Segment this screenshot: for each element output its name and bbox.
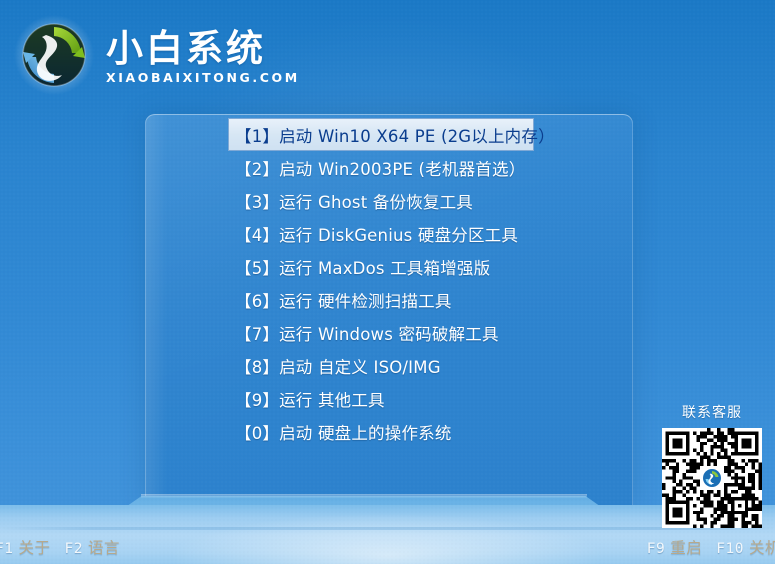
boot-menu-item-key: 【9】 xyxy=(235,387,279,411)
boot-menu-item-label: 运行 硬件检测扫描工具 xyxy=(279,288,451,312)
boot-menu-item-label: 运行 Ghost 备份恢复工具 xyxy=(279,189,473,213)
recycle-circle-logo-icon xyxy=(12,13,96,97)
boot-menu-item-10[interactable]: 【0】启动 硬盘上的操作系统 xyxy=(228,415,534,448)
boot-menu-item-5[interactable]: 【5】运行 MaxDos 工具箱增强版 xyxy=(228,250,534,283)
boot-menu-item-7[interactable]: 【7】运行 Windows 密码破解工具 xyxy=(228,316,534,349)
footer-action-f10[interactable]: 关机 xyxy=(749,539,775,557)
boot-menu-item-key: 【5】 xyxy=(235,255,279,279)
boot-menu-item-3[interactable]: 【3】运行 Ghost 备份恢复工具 xyxy=(228,184,534,217)
footer-action-f1[interactable]: 关于 xyxy=(18,539,50,557)
brand-subtitle: XIAOBAIXITONG.COM xyxy=(106,72,300,85)
boot-menu-item-label: 运行 其他工具 xyxy=(279,387,385,411)
boot-menu-item-4[interactable]: 【4】运行 DiskGenius 硬盘分区工具 xyxy=(228,217,534,250)
monitor-left-shading xyxy=(145,114,167,507)
footer-key-f10: F10 xyxy=(716,541,744,557)
boot-menu-screen: 小白系统 XIAOBAIXITONG.COM 【1】启动 Win10 X64 P… xyxy=(0,0,775,564)
footer-action-f2[interactable]: 语言 xyxy=(88,539,120,557)
boot-menu-item-key: 【1】 xyxy=(235,123,279,147)
boot-menu-item-label: 启动 Win10 X64 PE (2G以上内存） xyxy=(279,123,555,147)
boot-menu-item-label: 运行 DiskGenius 硬盘分区工具 xyxy=(279,222,518,246)
boot-menu-item-key: 【4】 xyxy=(235,222,279,246)
boot-menu-item-label: 启动 硬盘上的操作系统 xyxy=(279,420,451,444)
boot-menu-item-key: 【6】 xyxy=(235,288,279,312)
boot-menu-item-key: 【7】 xyxy=(235,321,279,345)
footer-key-f9: F9 xyxy=(647,541,665,557)
contact-support-title: 联系客服 xyxy=(658,402,766,422)
boot-menu-item-label: 运行 MaxDos 工具箱增强版 xyxy=(279,255,490,279)
footer-key-f2: F2 xyxy=(64,541,82,557)
boot-menu-list[interactable]: 【1】启动 Win10 X64 PE (2G以上内存）【2】启动 Win2003… xyxy=(228,118,534,448)
boot-menu-item-1[interactable]: 【1】启动 Win10 X64 PE (2G以上内存） xyxy=(228,118,534,151)
contact-support-block: 联系客服 xyxy=(658,402,766,528)
qr-code-icon[interactable] xyxy=(662,428,762,528)
boot-menu-item-key: 【8】 xyxy=(235,354,279,378)
boot-menu-item-2[interactable]: 【2】启动 Win2003PE (老机器首选） xyxy=(228,151,534,184)
boot-menu-item-key: 【0】 xyxy=(235,420,279,444)
boot-menu-item-9[interactable]: 【9】运行 其他工具 xyxy=(228,382,534,415)
boot-menu-item-label: 启动 Win2003PE (老机器首选） xyxy=(279,156,525,180)
footer-action-f9[interactable]: 重启 xyxy=(670,539,702,557)
boot-menu-item-8[interactable]: 【8】启动 自定义 ISO/IMG xyxy=(228,349,534,382)
monitor-stand-top-edge xyxy=(141,494,587,498)
boot-menu-item-label: 启动 自定义 ISO/IMG xyxy=(279,354,441,378)
boot-menu-item-label: 运行 Windows 密码破解工具 xyxy=(279,321,499,345)
brand-logo: 小白系统 XIAOBAIXITONG.COM xyxy=(12,13,300,97)
footer-keys-right[interactable]: F9重启F10关机 xyxy=(647,536,775,558)
brand-logo-icon xyxy=(701,467,723,489)
boot-menu-item-key: 【2】 xyxy=(235,156,279,180)
footer-keys-left[interactable]: F1关于F2语言 xyxy=(0,536,120,558)
boot-menu-item-6[interactable]: 【6】运行 硬件检测扫描工具 xyxy=(228,283,534,316)
footer-key-f1: F1 xyxy=(0,541,13,557)
brand-title: 小白系统 xyxy=(106,30,266,67)
boot-menu-item-key: 【3】 xyxy=(235,189,279,213)
